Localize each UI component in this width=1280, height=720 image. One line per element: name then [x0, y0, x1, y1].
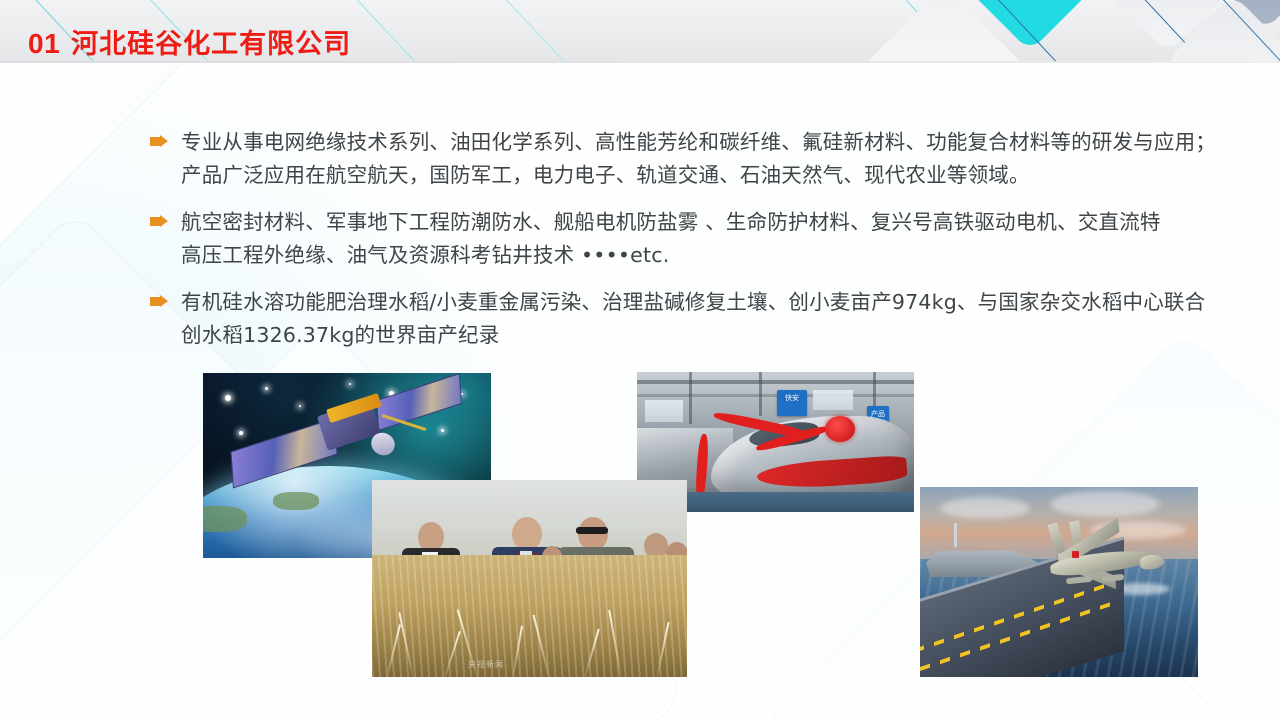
- star: [299, 405, 301, 407]
- arrow-bullet-icon: [150, 215, 168, 228]
- title-number: 01: [28, 28, 60, 60]
- deck-marking-line: [920, 584, 1104, 653]
- rice-field-photo: 央视新闻: [372, 480, 687, 677]
- hall-window: [813, 390, 853, 410]
- person-head: [578, 517, 608, 551]
- bullet-text: 航空密封材料、军事地下工程防潮防水、舰船电机防盐雾 、生命防护材料、复兴号高铁驱…: [181, 206, 1181, 272]
- bullet-text: 有机硅水溶功能肥治理水稻/小麦重金属污染、治理盐碱修复土壤、创小麦亩产974kg…: [181, 286, 1211, 352]
- aircraft-carrier-photo: [920, 487, 1198, 677]
- cloud: [1050, 491, 1160, 517]
- page-title: 01 河北硅谷化工有限公司: [28, 22, 351, 61]
- cloud: [940, 497, 1030, 519]
- photo-watermark: 央视新闻: [468, 659, 504, 670]
- jet-missile: [1102, 574, 1125, 582]
- bullet-text: 专业从事电网绝缘技术系列、油田化学系列、高性能芳纶和碳纤维、氟硅新材料、功能复合…: [181, 126, 1218, 192]
- red-ribbon-flower: [825, 416, 855, 442]
- slide-header: 01 河北硅谷化工有限公司: [0, 0, 1280, 62]
- list-item: 专业从事电网绝缘技术系列、油田化学系列、高性能芳纶和碳纤维、氟硅新材料、功能复合…: [150, 126, 1218, 192]
- ship-mast: [954, 523, 957, 547]
- list-item: 有机硅水溶功能肥治理水稻/小麦重金属污染、治理盐碱修复土壤、创小麦亩产974kg…: [150, 286, 1218, 352]
- eyeglasses: [576, 527, 608, 534]
- support-column: [759, 372, 762, 416]
- star: [265, 387, 268, 390]
- fighter-jet: [1028, 529, 1158, 593]
- star: [349, 383, 351, 385]
- header-bottom-rule: [0, 61, 1280, 63]
- factory-banner-sign: 快安: [777, 390, 807, 416]
- wheat-crop-field: [372, 555, 687, 677]
- star: [239, 431, 243, 435]
- arrow-bullet-icon: [150, 135, 168, 148]
- support-column: [689, 372, 692, 424]
- star: [441, 429, 444, 432]
- hall-window: [645, 400, 683, 422]
- list-item: 航空密封材料、军事地下工程防潮防水、舰船电机防盐雾 、生命防护材料、复兴号高铁驱…: [150, 206, 1218, 272]
- jet-insignia: [1072, 551, 1079, 558]
- landmass: [273, 492, 319, 510]
- bullet-list: 专业从事电网绝缘技术系列、油田化学系列、高性能芳纶和碳纤维、氟硅新材料、功能复合…: [150, 126, 1218, 366]
- title-text: 河北硅谷化工有限公司: [71, 22, 351, 61]
- star: [225, 395, 231, 401]
- header-line: [469, 0, 592, 62]
- landmass: [203, 506, 247, 532]
- jet-missile: [1066, 576, 1092, 585]
- slide-root: 01 河北硅谷化工有限公司 专业从事电网绝缘技术系列、油田化学系列、高性能芳纶和…: [0, 0, 1280, 720]
- arrow-bullet-icon: [150, 295, 168, 308]
